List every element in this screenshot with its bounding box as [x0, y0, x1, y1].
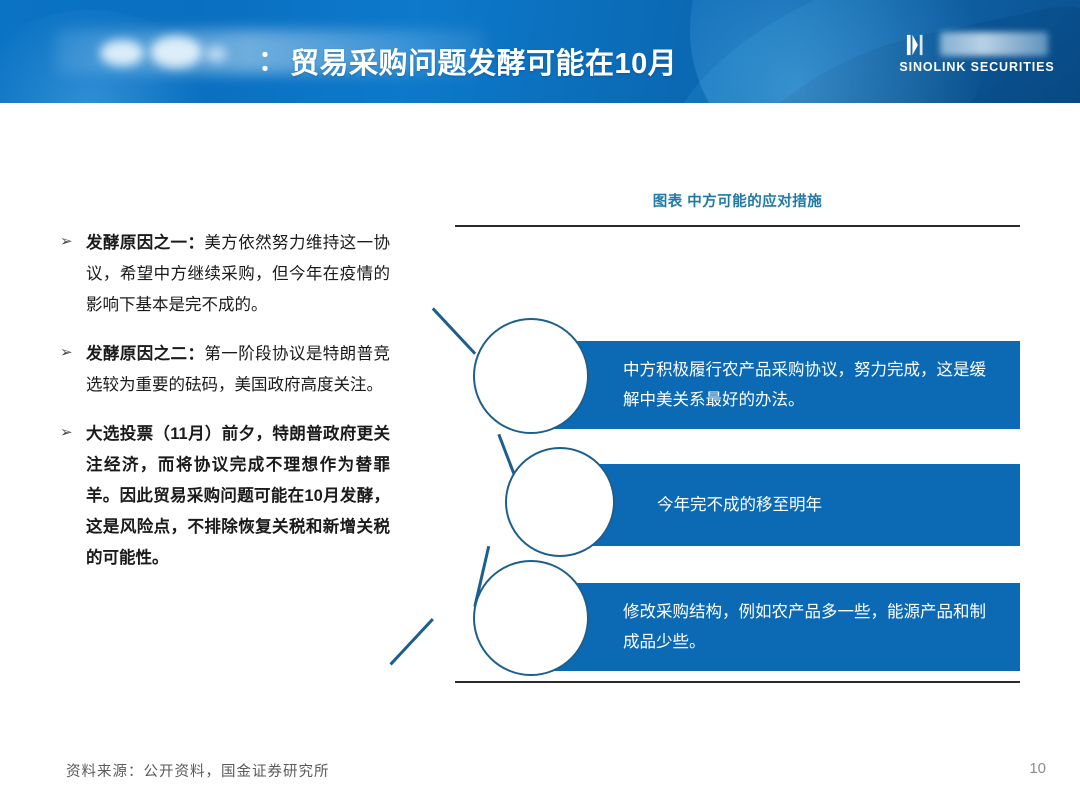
- figure-rule-top: [455, 225, 1020, 227]
- process-node-circle-2[interactable]: [505, 447, 615, 557]
- process-node-circle-3[interactable]: [473, 560, 589, 676]
- bullet-arrow-icon: ➢: [60, 228, 86, 321]
- page-number: 10: [1029, 760, 1046, 777]
- process-diagram: 中方积极履行农产品采购协议，努力完成，这是缓解中美关系最好的办法。 今年完不成的…: [455, 245, 1020, 675]
- bullet-lead: 发酵原因之二：: [86, 345, 204, 363]
- header-blur-dot-1: [100, 40, 144, 66]
- bullet-arrow-icon: ➢: [60, 419, 86, 574]
- bullet-text: 大选投票（11月）前夕，特朗普政府更关注经济，而将协议完成不理想作为替罪羊。因此…: [86, 419, 390, 574]
- header-title-colon: ：: [258, 39, 286, 79]
- bullet-item: ➢ 发酵原因之一：美方依然努力维持这一协议，希望中方继续采购，但今年在疫情的影响…: [60, 228, 390, 321]
- sinolink-logo-mark-icon: [906, 34, 928, 56]
- bullet-arrow-icon: ➢: [60, 339, 86, 401]
- bullet-rest: 大选投票（11月）前夕，特朗普政府更关注经济，而将协议完成不理想作为替罪羊。因此…: [86, 425, 390, 567]
- process-band-3-text: 修改采购结构，例如农产品多一些，能源产品和制成品少些。: [521, 597, 1020, 657]
- bullet-text: 发酵原因之一：美方依然努力维持这一协议，希望中方继续采购，但今年在疫情的影响下基…: [86, 228, 390, 321]
- brand-logo: SINOLINK SECURITIES: [892, 32, 1062, 74]
- bullet-item: ➢ 大选投票（11月）前夕，特朗普政府更关注经济，而将协议完成不理想作为替罪羊。…: [60, 419, 390, 574]
- figure-title: 图表 中方可能的应对措施: [455, 190, 1020, 211]
- process-band-1[interactable]: 中方积极履行农产品采购协议，努力完成，这是缓解中美关系最好的办法。: [521, 341, 1020, 429]
- source-note: 资料来源：公开资料，国金证券研究所: [66, 760, 330, 781]
- header-blur-dot-3: [205, 46, 227, 62]
- header-blur-dot-2: [150, 36, 202, 68]
- page-title: 贸易采购问题发酵可能在10月: [290, 40, 677, 82]
- process-band-2[interactable]: 今年完不成的移至明年: [545, 464, 1020, 546]
- logo-chinese-name-blur: [940, 32, 1048, 56]
- header-banner: ： 贸易采购问题发酵可能在10月 SINOLINK SECURITIES: [0, 0, 1080, 103]
- process-band-3[interactable]: 修改采购结构，例如农产品多一些，能源产品和制成品少些。: [521, 583, 1020, 671]
- bullet-lead: 发酵原因之一：: [86, 234, 204, 252]
- slide-root: ： 贸易采购问题发酵可能在10月 SINOLINK SECURITIES ➢ 发…: [0, 0, 1080, 810]
- figure-rule-bottom: [455, 681, 1020, 683]
- process-band-1-text: 中方积极履行农产品采购协议，努力完成，这是缓解中美关系最好的办法。: [521, 355, 1020, 415]
- process-node-circle-1[interactable]: [473, 318, 589, 434]
- bullet-list: ➢ 发酵原因之一：美方依然努力维持这一协议，希望中方继续采购，但今年在疫情的影响…: [60, 228, 390, 592]
- logo-wordmark: SINOLINK SECURITIES: [892, 60, 1062, 74]
- connector-line-top: [432, 307, 476, 354]
- bullet-item: ➢ 发酵原因之二：第一阶段协议是特朗普竞选较为重要的砝码，美国政府高度关注。: [60, 339, 390, 401]
- figure-panel: 图表 中方可能的应对措施 中方积极履行农产品采购协议，努力完成，这是缓解中美关系…: [455, 190, 1020, 683]
- connector-line-bottom: [390, 618, 434, 665]
- logo-mark-row: [892, 32, 1062, 58]
- bullet-text: 发酵原因之二：第一阶段协议是特朗普竞选较为重要的砝码，美国政府高度关注。: [86, 339, 390, 401]
